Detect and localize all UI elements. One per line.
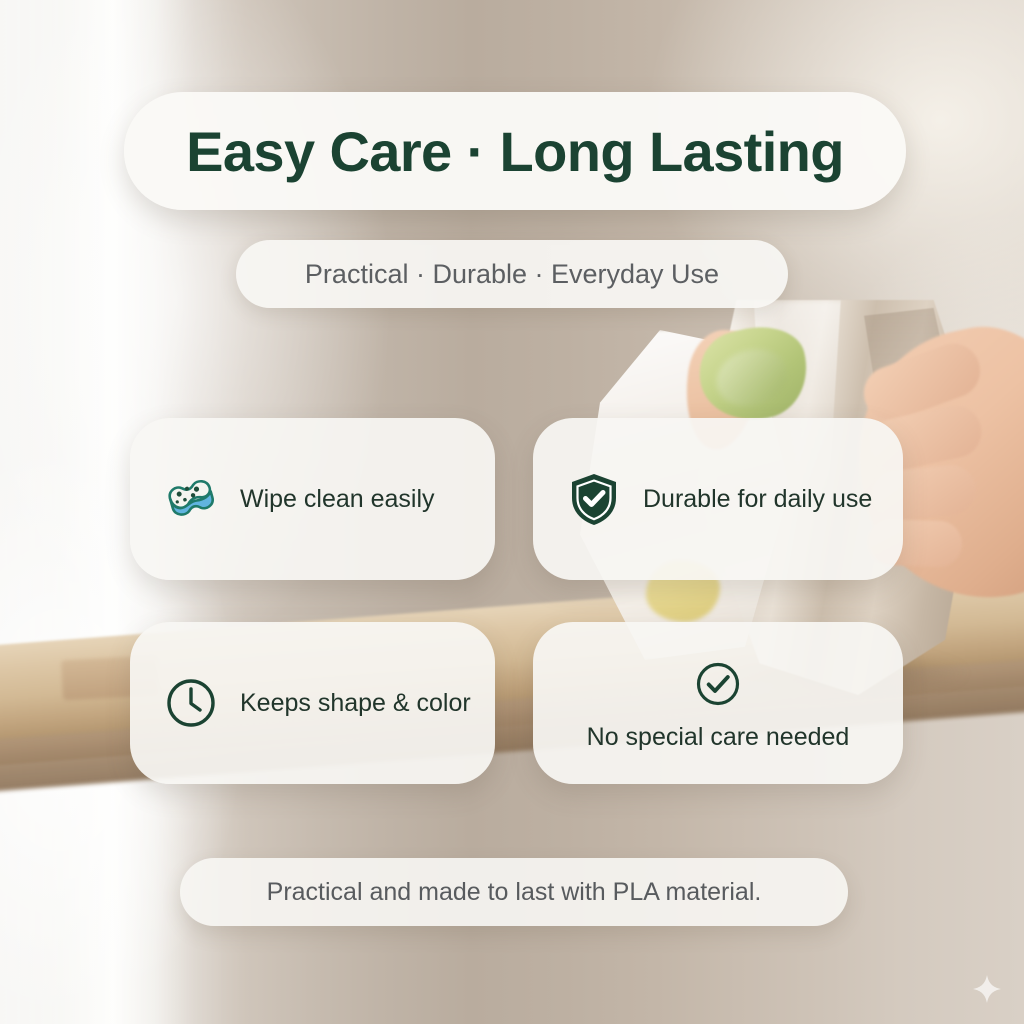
sparkle-icon xyxy=(972,974,1002,1004)
page-title: Easy Care · Long Lasting xyxy=(186,119,844,184)
feature-card-wipe-clean[interactable]: Wipe clean easily xyxy=(130,418,495,580)
page-subtitle: Practical · Durable · Everyday Use xyxy=(305,259,719,290)
footer-text: Practical and made to last with PLA mate… xyxy=(267,878,762,907)
feature-label: Keeps shape & color xyxy=(240,689,471,718)
shield-check-icon xyxy=(565,470,623,528)
feature-label: Wipe clean easily xyxy=(240,485,435,514)
feature-card-keeps-shape[interactable]: Keeps shape & color xyxy=(130,622,495,784)
clock-icon xyxy=(162,674,220,732)
feature-card-durable[interactable]: Durable for daily use xyxy=(533,418,903,580)
sponge-icon xyxy=(162,470,220,528)
feature-label: Durable for daily use xyxy=(643,485,872,514)
feature-label: No special care needed xyxy=(587,723,850,752)
feature-card-no-special-care[interactable]: No special care needed xyxy=(533,622,903,784)
check-circle-icon xyxy=(689,655,747,713)
footer-pill: Practical and made to last with PLA mate… xyxy=(180,858,848,926)
poster-canvas: Easy Care · Long Lasting Practical · Dur… xyxy=(0,0,1024,1024)
title-pill: Easy Care · Long Lasting xyxy=(124,92,906,210)
subtitle-pill: Practical · Durable · Everyday Use xyxy=(236,240,788,308)
